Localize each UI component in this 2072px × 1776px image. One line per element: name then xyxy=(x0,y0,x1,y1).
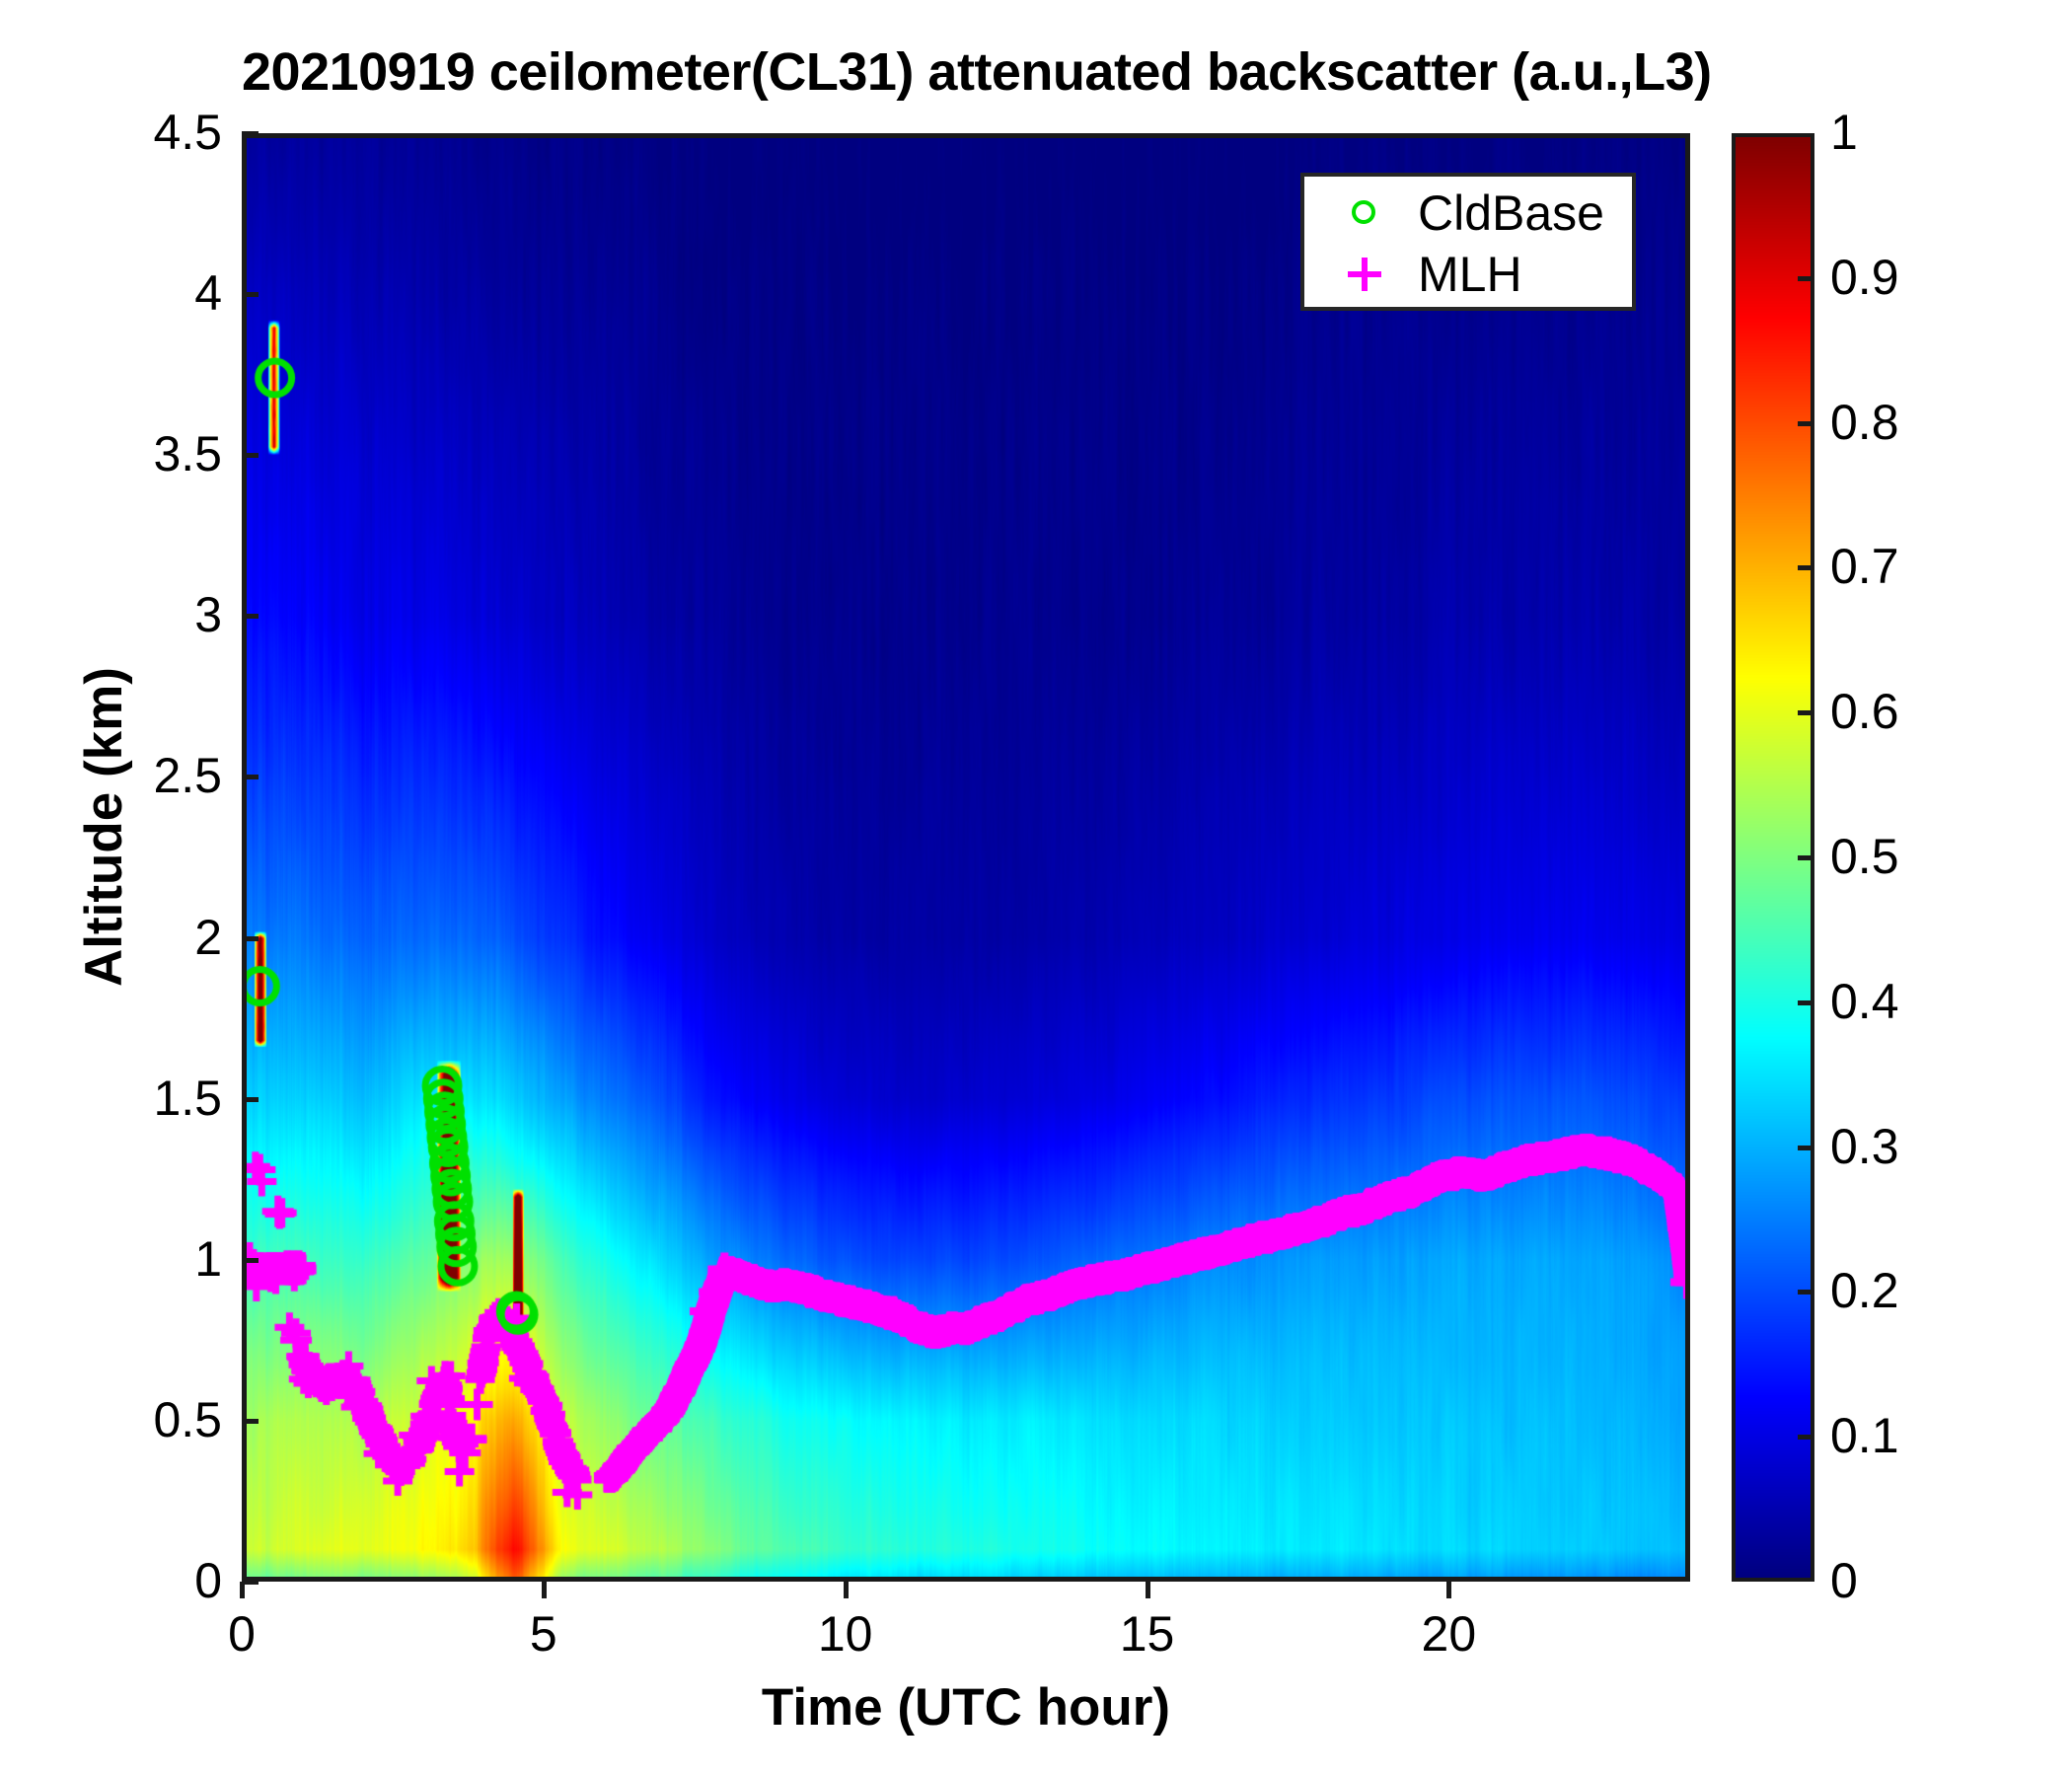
y-tick-mark xyxy=(242,292,259,297)
x-tick-mark xyxy=(240,1582,245,1598)
colorbar-tick-label: 0 xyxy=(1830,1556,1858,1605)
y-tick-mark xyxy=(242,775,259,779)
colorbar-tick-mark xyxy=(1798,855,1814,860)
colorbar-tick-mark xyxy=(1798,1146,1814,1150)
y-tick-label: 3.5 xyxy=(44,429,222,479)
legend-label-cldbase: CldBase xyxy=(1418,185,1604,244)
y-tick-mark xyxy=(242,453,259,458)
colorbar-tick-label: 0.1 xyxy=(1830,1411,1899,1460)
y-tick-label: 4 xyxy=(44,268,222,318)
colorbar-tick-mark xyxy=(1798,565,1814,570)
colorbar-tick-mark xyxy=(1798,1290,1814,1295)
page-title: 20210919 ceilometer(CL31) attenuated bac… xyxy=(242,41,1692,103)
y-tick-mark xyxy=(242,1097,259,1102)
y-tick-label: 3 xyxy=(44,590,222,639)
legend-entry-mlh[interactable]: MLH xyxy=(1304,246,1632,305)
colorbar-tick-label: 0.2 xyxy=(1830,1266,1899,1315)
y-tick-mark xyxy=(242,1258,259,1263)
x-tick-label: 20 xyxy=(1360,1609,1537,1659)
legend-label-mlh: MLH xyxy=(1418,246,1522,305)
colorbar-tick-label: 1 xyxy=(1830,108,1858,157)
y-axis-label: Altitude (km) xyxy=(74,667,134,987)
colorbar-tick-label: 0.7 xyxy=(1830,542,1899,591)
x-tick-mark xyxy=(1146,1582,1150,1598)
y-tick-mark xyxy=(242,131,259,136)
colorbar-tick-mark xyxy=(1798,1435,1814,1440)
x-tick-mark xyxy=(844,1582,849,1598)
plus-icon xyxy=(1334,246,1403,305)
y-tick-mark xyxy=(242,936,259,941)
colorbar-tick-label: 0.3 xyxy=(1830,1122,1899,1171)
colorbar-tick-label: 0.9 xyxy=(1830,253,1899,302)
legend[interactable]: CldBase MLH xyxy=(1300,173,1636,311)
y-tick-label: 4.5 xyxy=(44,108,222,157)
y-tick-mark xyxy=(242,1419,259,1424)
colorbar-tick-mark xyxy=(1798,421,1814,426)
x-tick-label: 5 xyxy=(455,1609,632,1659)
x-tick-mark xyxy=(1446,1582,1451,1598)
colorbar-tick-mark xyxy=(1798,276,1814,281)
legend-entry-cldbase[interactable]: CldBase xyxy=(1304,185,1632,244)
x-tick-label: 0 xyxy=(153,1609,331,1659)
x-tick-mark xyxy=(542,1582,547,1598)
y-tick-label: 1.5 xyxy=(44,1073,222,1123)
colorbar-tick-label: 0.5 xyxy=(1830,832,1899,881)
y-tick-label: 1 xyxy=(44,1234,222,1284)
x-axis-label: Time (UTC hour) xyxy=(242,1677,1690,1738)
x-tick-label: 15 xyxy=(1059,1609,1236,1659)
backscatter-heatmap[interactable] xyxy=(242,133,1690,1582)
y-tick-mark xyxy=(242,614,259,619)
colorbar-tick-label: 0.4 xyxy=(1830,977,1899,1026)
y-tick-label: 0 xyxy=(44,1556,222,1605)
colorbar-tick-mark xyxy=(1798,710,1814,715)
colorbar-tick-label: 0.8 xyxy=(1830,398,1899,447)
x-tick-label: 10 xyxy=(757,1609,934,1659)
colorbar-tick-label: 0.6 xyxy=(1830,687,1899,736)
y-tick-label: 0.5 xyxy=(44,1395,222,1444)
colorbar-tick-mark xyxy=(1798,1000,1814,1005)
circle-icon xyxy=(1334,185,1403,244)
